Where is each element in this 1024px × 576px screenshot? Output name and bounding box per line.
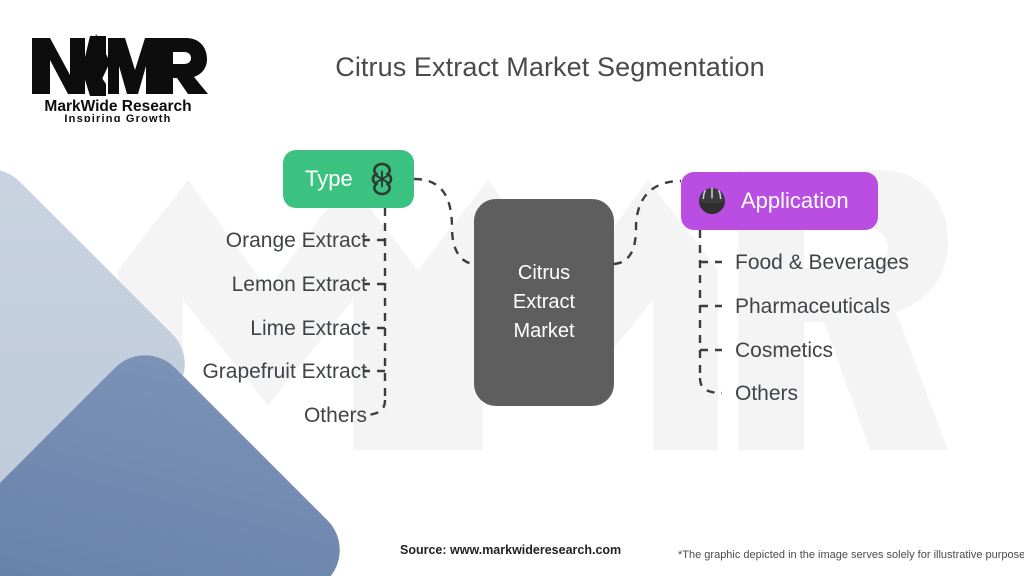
- type-leaf-list: Orange Extract Lemon Extract Lime Extrac…: [0, 0, 367, 576]
- source-label: Source: www.markwideresearch.com: [400, 543, 621, 557]
- connector-type-to-center: [414, 179, 474, 264]
- application-leaf-item-4[interactable]: Others: [735, 382, 798, 406]
- type-leaf-item-2[interactable]: Lemon Extract: [232, 273, 367, 297]
- slide-canvas: MarkWide Research Inspiring Growth Citru…: [0, 0, 1024, 576]
- type-leaf-item-4[interactable]: Grapefruit Extract: [202, 360, 367, 384]
- center-node: Citrus Extract Market: [474, 199, 614, 406]
- application-leaf-list: Food & Beverages Pharmaceuticals Cosmeti…: [735, 0, 1024, 576]
- application-leaf-item-3[interactable]: Cosmetics: [735, 339, 833, 363]
- type-leaf-item-1[interactable]: Orange Extract: [226, 229, 367, 253]
- application-leaf-item-2[interactable]: Pharmaceuticals: [735, 295, 890, 319]
- type-leaf-item-3[interactable]: Lime Extract: [250, 317, 367, 341]
- connector-center-to-application: [614, 181, 681, 264]
- type-leaf-item-5[interactable]: Others: [304, 404, 367, 428]
- page-title: Citrus Extract Market Segmentation: [300, 52, 800, 83]
- application-leaf-item-1[interactable]: Food & Beverages: [735, 251, 909, 275]
- center-node-line-2: Extract: [513, 288, 575, 317]
- citrus-half-icon: [695, 184, 729, 218]
- citrus-slice-icon: [365, 162, 399, 196]
- disclaimer-label: *The graphic depicted in the image serve…: [678, 549, 1024, 561]
- center-node-line-3: Market: [513, 317, 574, 346]
- center-node-line-1: Citrus: [518, 259, 570, 288]
- right-branch-4: [700, 378, 722, 393]
